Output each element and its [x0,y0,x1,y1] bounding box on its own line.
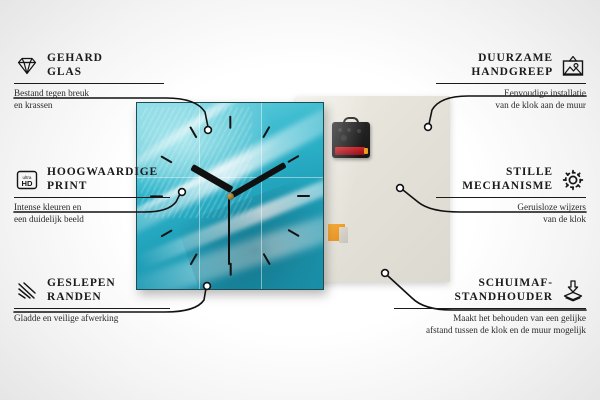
feature-stille-mechanisme[interactable]: STILLE MECHANISME Geruisloze wijzers van… [436,166,586,225]
feature-title-line2: RANDEN [47,291,116,305]
hour-marker [229,116,231,129]
feature-desc-line2: en krassen [14,100,164,112]
feature-title-line1: STILLE [462,166,553,180]
feature-title-line1: DUURZAME [471,52,553,66]
feature-desc-line2: een duidelijk beeld [14,214,170,226]
divider [14,308,170,309]
divider [394,308,586,309]
feature-title-line1: SCHUIMAF- [454,277,553,291]
battery [335,147,365,155]
feature-desc-line2: van de klok [436,214,586,226]
infographic-canvas: GEHARD GLAS Bestand tegen breuk en krass… [0,0,600,400]
foam-spacer-pad [328,224,345,241]
feature-title-line1: HOOGWAARDIGE [47,166,158,180]
feature-hoogwaardige-print[interactable]: ultra HD HOOGWAARDIGE PRINT Intense kleu… [14,166,170,225]
feature-desc-line1: Intense kleuren en [14,202,170,214]
feature-desc-line1: Geruisloze wijzers [436,202,586,214]
feature-title-line2: GLAS [47,66,103,80]
feature-desc-line2: van de klok aan de muur [436,100,586,112]
feature-title-line2: PRINT [47,180,158,194]
clock-hub [227,193,234,200]
feature-title-line1: GEHARD [47,52,103,66]
divider [436,83,586,84]
feature-gehard-glas[interactable]: GEHARD GLAS Bestand tegen breuk en krass… [14,52,164,111]
mechanism-hook-icon [343,117,359,126]
feature-desc-line1: Gladde en veilige afwerking [14,313,170,325]
feature-title-line2: STANDHOUDER [454,291,553,305]
divider [14,197,170,198]
feature-duurzame-handgreep[interactable]: DUURZAME HANDGREEP Eenvoudige installati… [436,52,586,111]
mechanism-detail [335,126,367,142]
svg-text:HD: HD [22,179,33,188]
second-hand [228,195,230,265]
feature-desc-line1: Maakt het behouden van een gelijke [394,313,586,325]
feature-title-line1: GESLEPEN [47,277,116,291]
feature-title-line2: MECHANISME [462,180,553,194]
feature-desc-line1: Eenvoudige installatie [436,88,586,100]
foam-spacer-icon [560,278,586,304]
clock-mechanism [332,122,370,158]
feature-title-line2: HANDGREEP [471,66,553,80]
feature-schuimaf-standhouder[interactable]: SCHUIMAF- STANDHOUDER Maakt het behouden… [394,277,586,336]
feature-desc-line1: Bestand tegen breuk [14,88,164,100]
divider [436,197,586,198]
divider [14,83,164,84]
product-assembly [136,102,450,294]
feature-desc-line2: afstand tussen de klok en de muur mogeli… [394,325,586,337]
gear-icon [560,167,586,193]
beveled-edges-icon [14,278,40,304]
feature-geslepen-randen[interactable]: GESLEPEN RANDEN Gladde en veilige afwerk… [14,277,170,325]
ultra-hd-icon: ultra HD [14,167,40,193]
hanging-picture-icon [560,53,586,79]
diamond-icon [14,53,40,79]
